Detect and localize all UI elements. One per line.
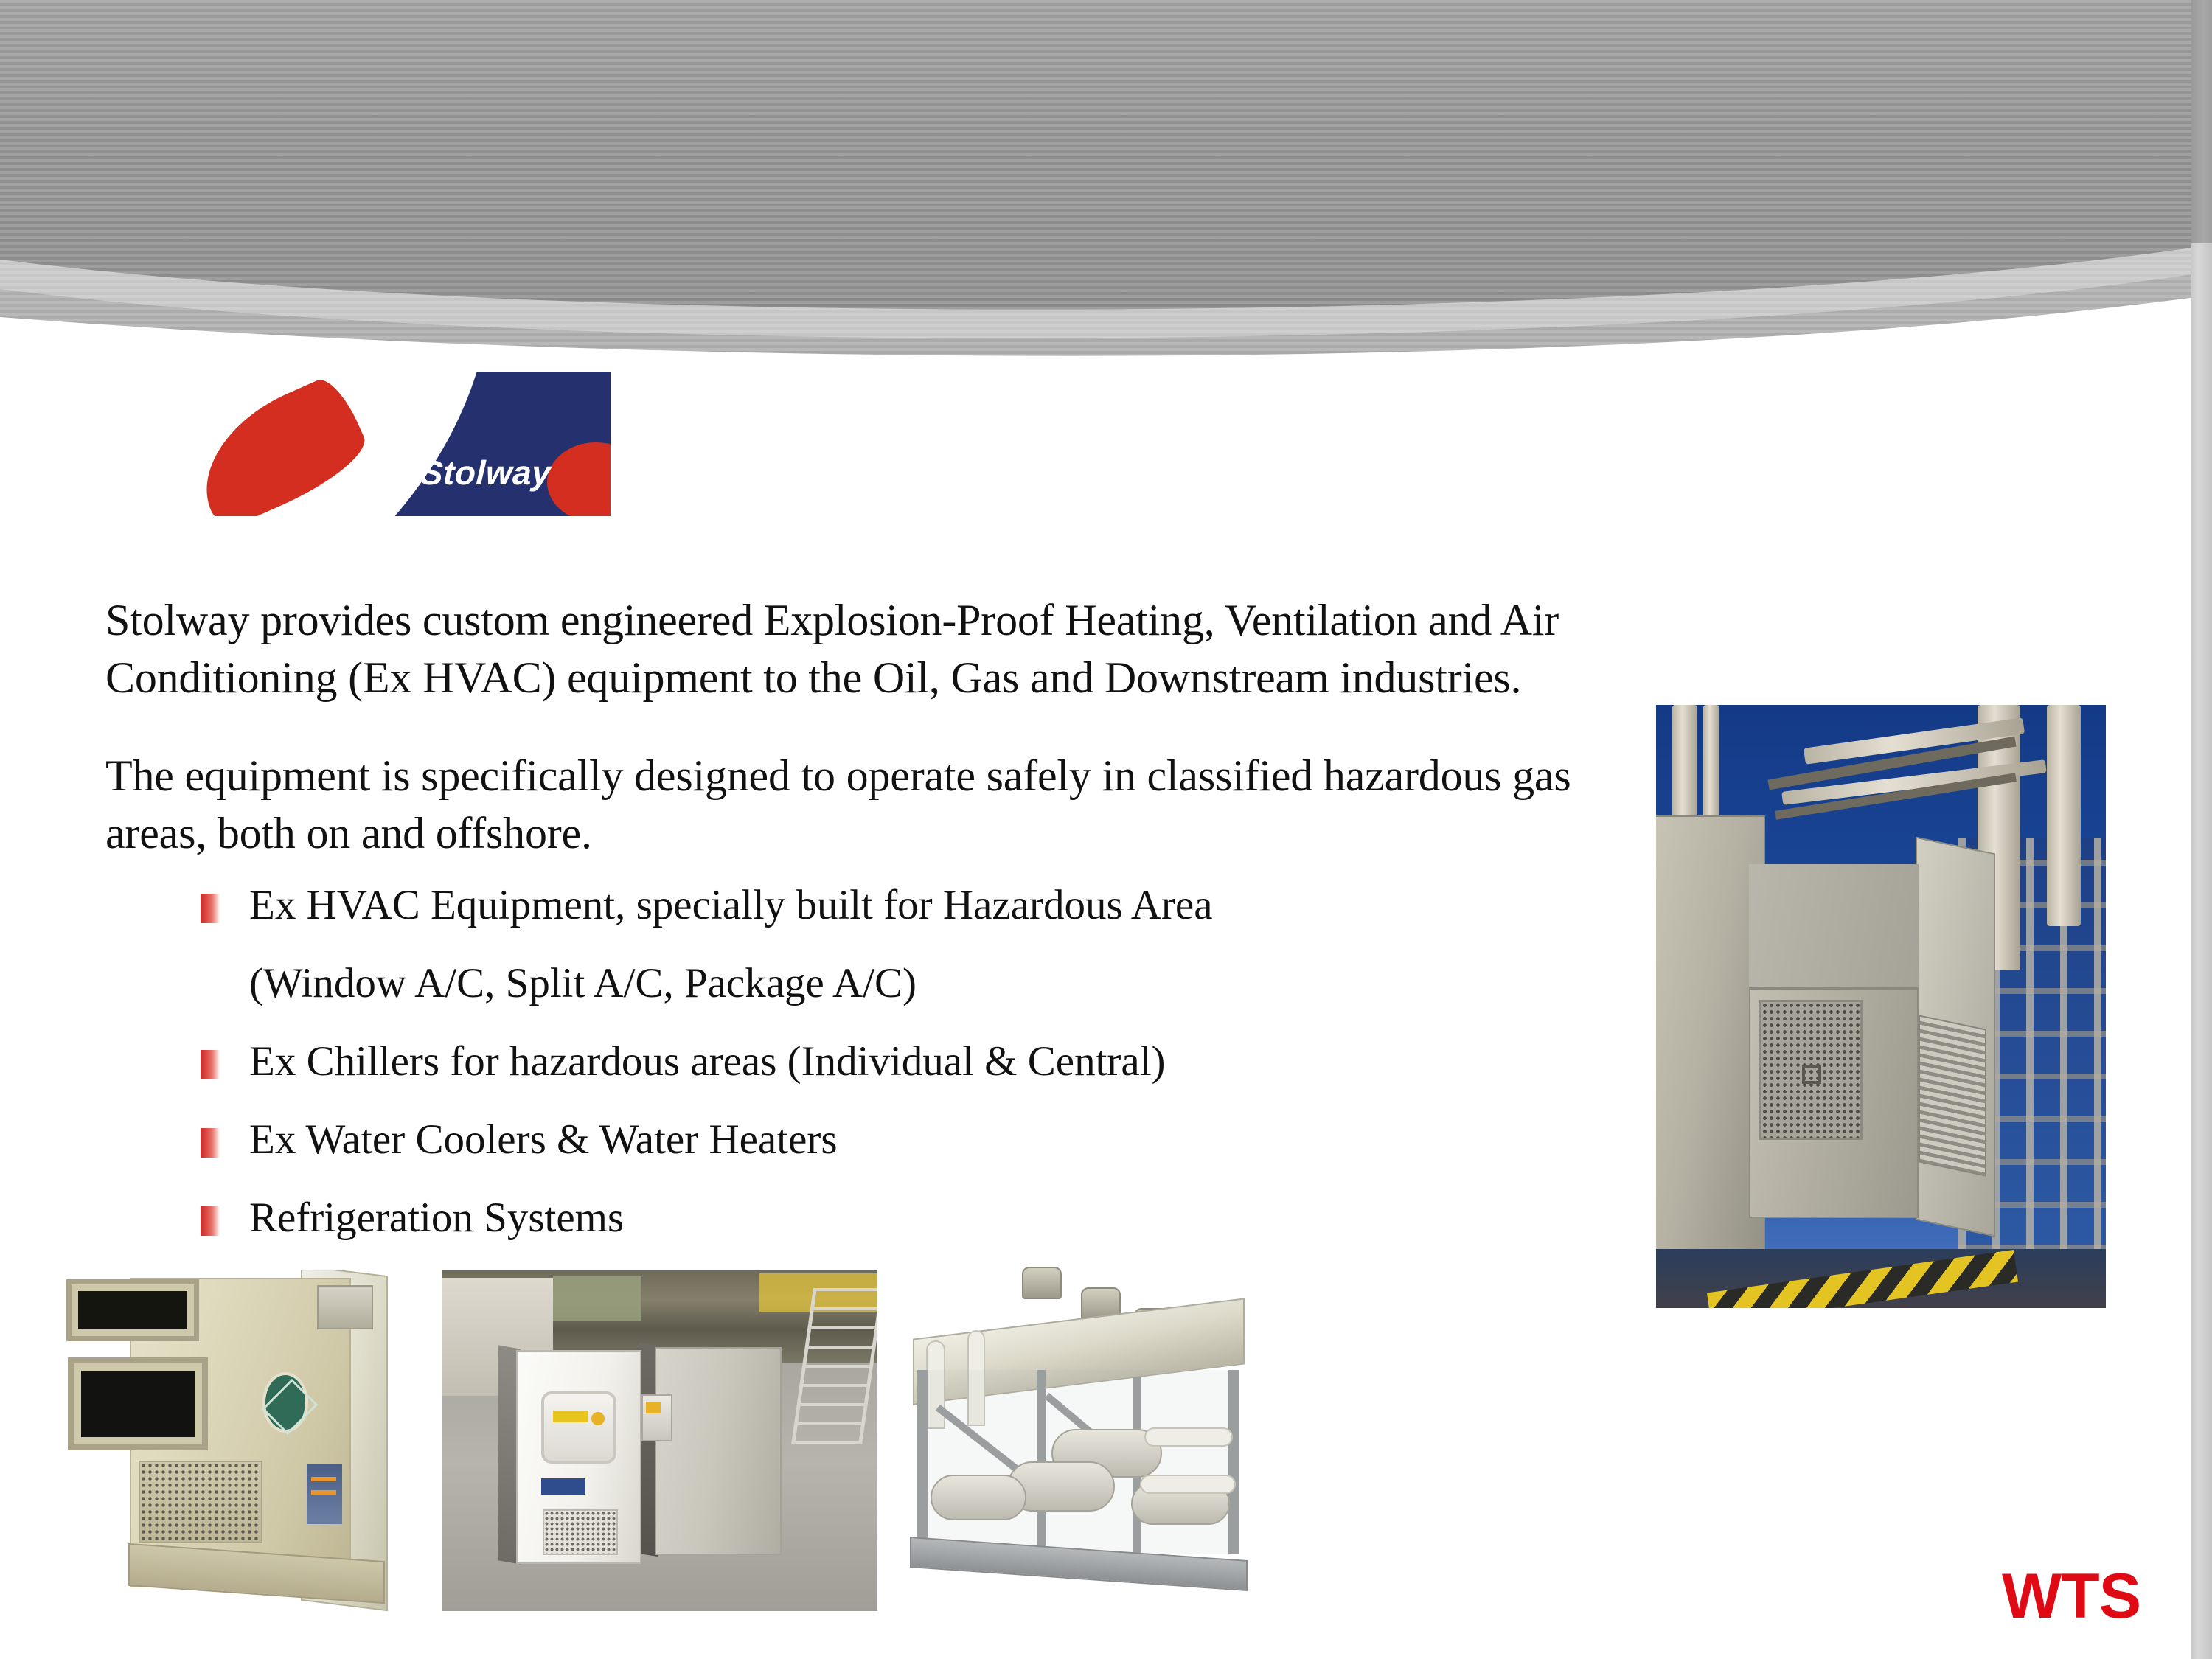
- bullet-label: Refrigeration Systems: [249, 1194, 624, 1242]
- photo-3-pipe-4: [1140, 1475, 1236, 1494]
- photo-3-pipe-3: [1144, 1427, 1233, 1447]
- photo-1-duct-lower: [68, 1357, 208, 1450]
- photo-2-ex-proof-hatch: [541, 1391, 616, 1464]
- photo-3-fan-1: [1022, 1267, 1062, 1299]
- photo-4-louver-grille: [1919, 1015, 1986, 1177]
- photo-package-ac-unit: [58, 1270, 406, 1628]
- intro-paragraph-2: The equipment is specifically designed t…: [105, 747, 1676, 862]
- equipment-bullet-list: Ex HVAC Equipment, specially built for H…: [201, 882, 1675, 1273]
- photo-4-hvac-unit-top-panel: [1749, 864, 1919, 990]
- slide-right-edge: [2191, 0, 2212, 1659]
- bullet-label: Ex Chillers for hazardous areas (Individ…: [249, 1038, 1166, 1085]
- photo-2-cabinet-a: [516, 1350, 641, 1564]
- photo-2-vent-grille: [543, 1509, 618, 1555]
- photo-3-vessel-1: [931, 1475, 1026, 1520]
- bullet-marker-icon: [201, 894, 220, 923]
- slide: Stolway Stolway provides custom engineer…: [0, 0, 2212, 1659]
- photo-2-cabinet-b: [655, 1347, 782, 1555]
- logo-wordmark: Stolway: [420, 453, 552, 493]
- photo-workshop-chiller-cabinets: [442, 1270, 877, 1611]
- photo-refinery-hvac-install: [1656, 705, 2106, 1308]
- photo-4-door-handle: [1802, 1065, 1821, 1084]
- photo-1-junction-box: [317, 1285, 373, 1329]
- bullet-sublabel: (Window A/C, Split A/C, Package A/C): [201, 960, 1675, 1038]
- wts-logo: WTS: [2002, 1565, 2140, 1628]
- slide-right-edge-top: [2191, 0, 2212, 243]
- photo-chiller-skid: [897, 1253, 1265, 1615]
- photo-4-riser-pipe-2: [2047, 705, 2081, 926]
- list-item: Ex Water Coolers & Water Heaters: [201, 1116, 1675, 1194]
- banner-graphic: [0, 0, 2212, 369]
- bullet-label: Ex HVAC Equipment, specially built for H…: [249, 882, 1213, 929]
- photo-1-control-panel: [307, 1464, 342, 1524]
- list-item: Ex HVAC Equipment, specially built for H…: [201, 882, 1675, 960]
- stolway-logo: Stolway: [145, 372, 611, 516]
- photo-2-cabinet-b-control-box: [641, 1394, 672, 1441]
- photo-1-duct-upper: [66, 1279, 199, 1341]
- photo-1-perforated-panel: [139, 1461, 262, 1543]
- intro-paragraph-1: Stolway provides custom engineered Explo…: [105, 591, 1676, 706]
- logo-red-dot-icon: [547, 442, 611, 516]
- bullet-label: Ex Water Coolers & Water Heaters: [249, 1116, 838, 1164]
- bullet-marker-icon: [201, 1050, 220, 1079]
- bullet-marker-icon: [201, 1128, 220, 1158]
- bullet-marker-icon: [201, 1206, 220, 1236]
- photo-2-nameplate: [541, 1478, 585, 1495]
- list-item: Ex Chillers for hazardous areas (Individ…: [201, 1038, 1675, 1116]
- header-banner: [0, 0, 2212, 369]
- photo-1-round-filter: [262, 1372, 308, 1433]
